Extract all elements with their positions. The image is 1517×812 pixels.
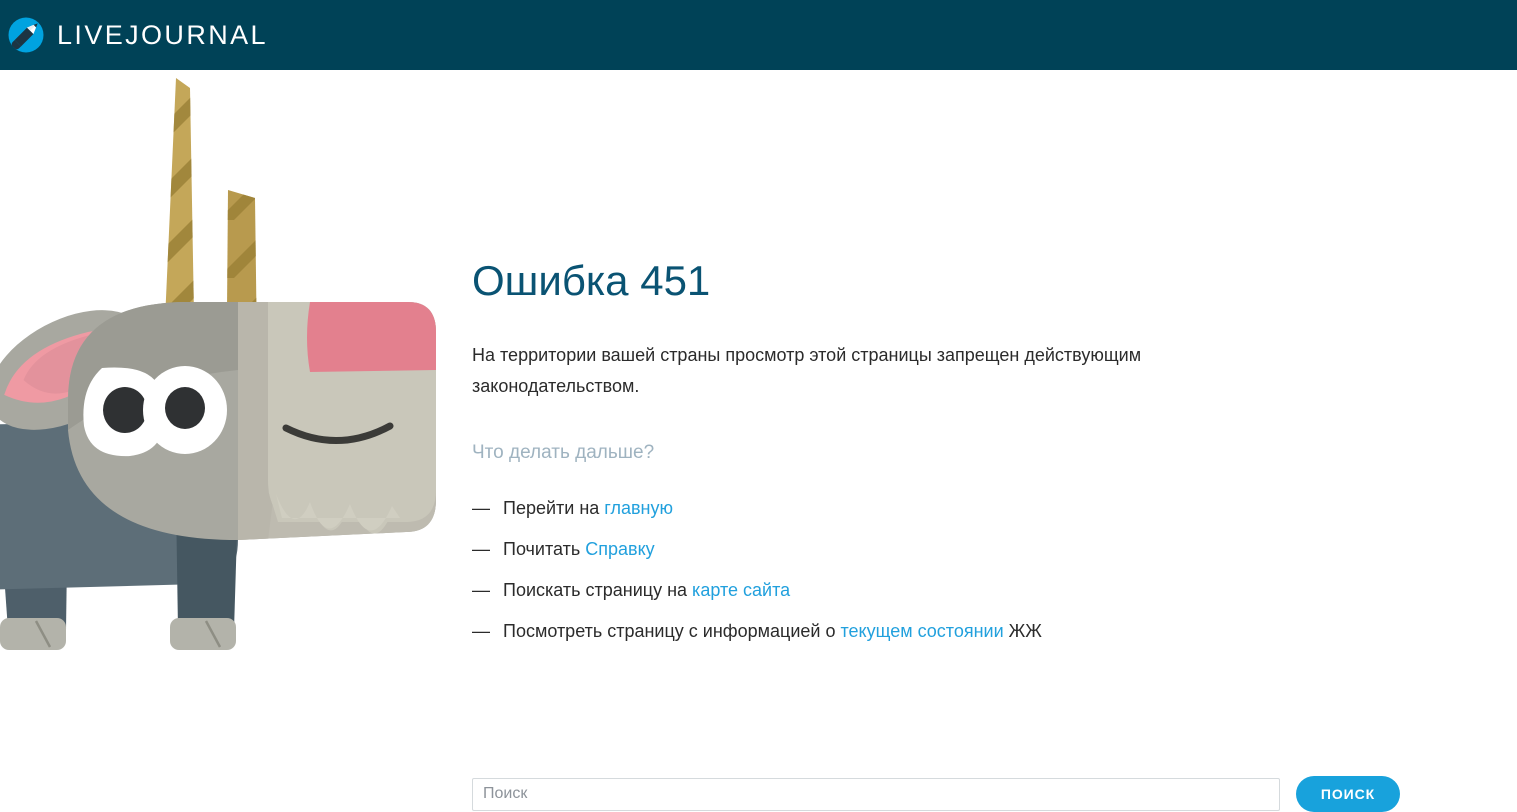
livejournal-pencil-circle-icon — [6, 15, 46, 55]
brand-wordmark: LIVEJOURNAL — [57, 22, 268, 49]
search-row: ПОИСК — [472, 776, 1502, 812]
list-item: —Посмотреть страницу с информацией о тек… — [472, 611, 1512, 652]
option-suffix: ЖЖ — [1004, 621, 1042, 641]
list-item: —Перейти на главную — [472, 488, 1512, 529]
list-item: —Почитать Справку — [472, 529, 1512, 570]
rhino-eye-left — [83, 367, 164, 456]
option-prefix: Перейти на — [503, 498, 604, 518]
site-header: LIVEJOURNAL — [0, 0, 1517, 70]
list-bullet: — — [472, 488, 503, 529]
next-steps-list: —Перейти на главную —Почитать Справку —П… — [472, 464, 1512, 652]
option-prefix: Посмотреть страницу с информацией о — [503, 621, 840, 641]
option-prefix: Поискать страницу на — [503, 580, 692, 600]
logo-home-link[interactable]: LIVEJOURNAL — [6, 15, 268, 55]
error-description: На территории вашей страны просмотр этой… — [472, 304, 1262, 402]
page-title: Ошибка 451 — [472, 70, 1512, 304]
page-body: Ошибка 451 На территории вашей страны пр… — [0, 70, 1517, 749]
list-bullet: — — [472, 611, 503, 652]
list-item: —Поискать страницу на карте сайта — [472, 570, 1512, 611]
list-bullet: — — [472, 529, 503, 570]
rhino-mascot-illustration — [0, 70, 438, 690]
search-input[interactable] — [472, 778, 1280, 811]
link-home[interactable]: главную — [604, 498, 673, 518]
next-steps-heading: Что делать дальше? — [472, 402, 1512, 464]
list-bullet: — — [472, 570, 503, 611]
option-prefix: Почитать — [503, 539, 585, 559]
link-status[interactable]: текущем состоянии — [840, 621, 1003, 641]
search-button[interactable]: ПОИСК — [1296, 776, 1400, 812]
link-help[interactable]: Справку — [585, 539, 654, 559]
error-content: Ошибка 451 На территории вашей страны пр… — [472, 70, 1512, 652]
rhino-eye-right — [143, 366, 227, 454]
link-sitemap[interactable]: карте сайта — [692, 580, 790, 600]
